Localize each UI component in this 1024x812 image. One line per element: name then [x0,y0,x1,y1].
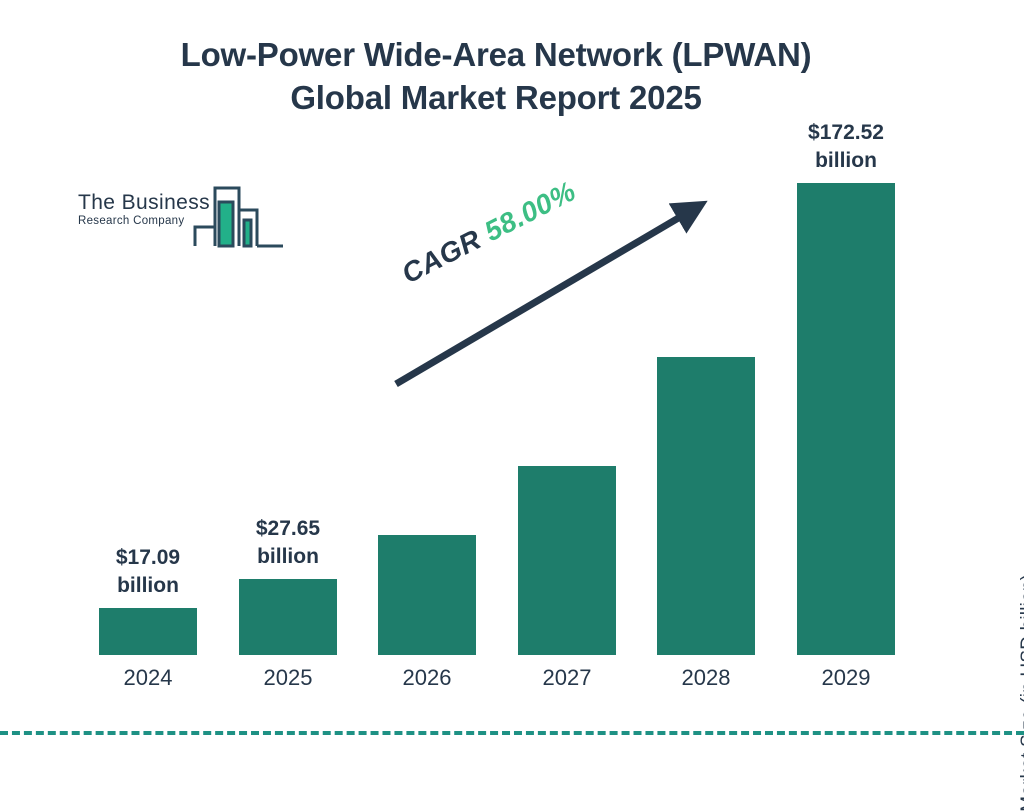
bar-2027 [518,466,616,655]
bar-2029 [797,183,895,655]
bar-2024 [99,608,197,655]
bar-value-label-2024: $17.09billion [79,544,217,600]
x-axis-tick-2025: 2025 [239,664,337,692]
x-axis-tick-2027: 2027 [518,664,616,692]
bar-value-amount-2025: $27.65 [219,515,357,543]
bar-value-amount-2029: $172.52 [777,119,915,147]
bar-value-label-2025: $27.65billion [219,515,357,571]
bar-value-unit-2029: billion [777,147,915,175]
y-axis-title: Market Size (in USD billion) [1018,574,1024,812]
x-axis-tick-2024: 2024 [99,664,197,692]
x-axis-tick-2028: 2028 [657,664,755,692]
plot-area: $17.09billion2024$27.65billion2025202620… [0,0,1024,768]
x-axis-tick-2026: 2026 [378,664,476,692]
bar-2025 [239,579,337,655]
bar-value-amount-2024: $17.09 [79,544,217,572]
chart-canvas: Low-Power Wide-Area Network (LPWAN) Glob… [0,0,1024,768]
x-axis-tick-2029: 2029 [797,664,895,692]
bar-2026 [378,535,476,655]
bar-value-unit-2025: billion [219,543,357,571]
bar-2028 [657,357,755,655]
bar-value-label-2029: $172.52billion [777,119,915,175]
bar-value-unit-2024: billion [79,572,217,600]
footer-divider [0,731,1024,735]
